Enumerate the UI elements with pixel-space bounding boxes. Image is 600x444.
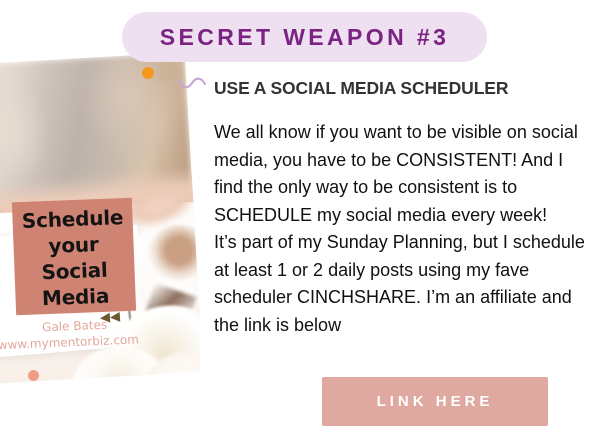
badge-label: SECRET WEAPON #3 <box>160 24 450 51</box>
body-copy: We all know if you want to be visible on… <box>214 119 586 339</box>
caption-line: Media <box>42 283 110 312</box>
photo-caption-card: Schedule your Social Media <box>12 198 136 316</box>
orange-dot-decoration <box>142 67 154 79</box>
secret-weapon-badge: SECRET WEAPON #3 <box>122 12 487 62</box>
caption-line: your <box>48 231 99 259</box>
page-title: USE A SOCIAL MEDIA SCHEDULER <box>214 78 586 99</box>
photo-collage: Schedule your Social Media ◀◀ Gale Bates… <box>0 0 200 444</box>
coral-dot-decoration <box>28 370 39 381</box>
photo-credit: Gale Bates www.mymentorbiz.com <box>9 315 140 352</box>
caption-line: Schedule <box>21 204 123 234</box>
content-column: USE A SOCIAL MEDIA SCHEDULER We all know… <box>214 78 586 339</box>
caption-line: Social <box>41 257 108 286</box>
body-paragraph: It’s part of my Sunday Planning, but I s… <box>214 229 586 339</box>
link-here-button[interactable]: LINK HERE <box>322 377 548 426</box>
squiggle-decoration <box>178 76 206 90</box>
slide-canvas: Schedule your Social Media ◀◀ Gale Bates… <box>0 0 600 444</box>
body-paragraph: We all know if you want to be visible on… <box>214 119 586 229</box>
